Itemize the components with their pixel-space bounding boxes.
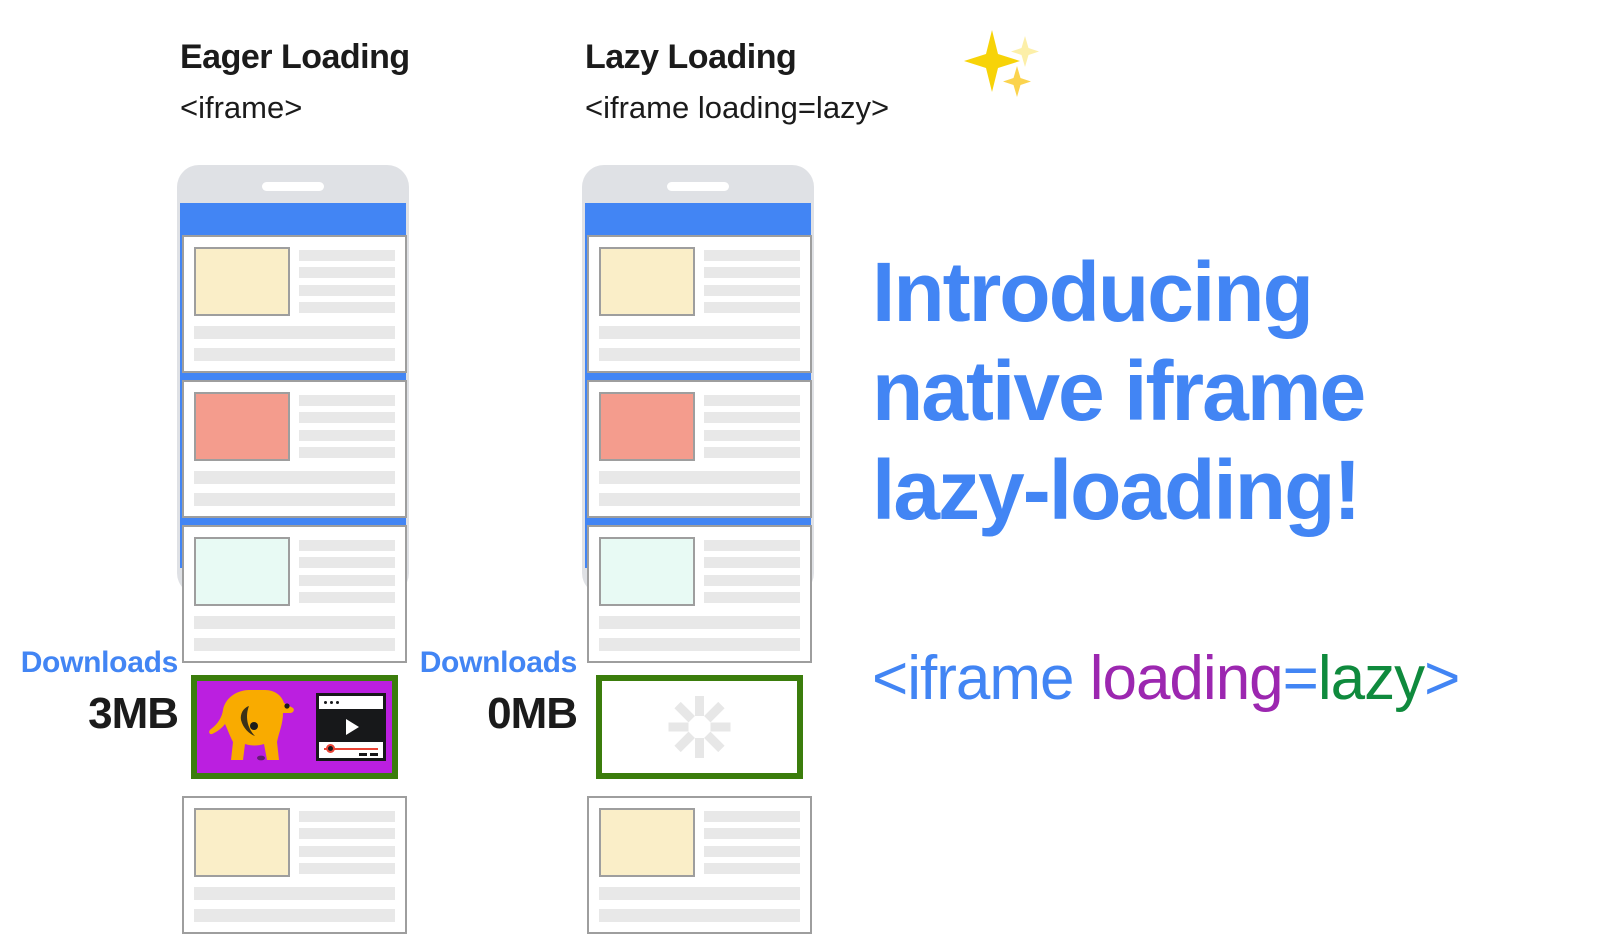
downloads-title: Downloads xyxy=(405,648,577,678)
phone-speaker xyxy=(262,182,324,191)
control-dash-icon xyxy=(359,753,367,756)
downloads-label-eager: Downloads 3MB xyxy=(0,648,178,736)
skeleton-line xyxy=(704,811,800,822)
skeleton-line xyxy=(704,863,800,874)
skeleton-line xyxy=(299,592,395,603)
skeleton-line xyxy=(299,557,395,568)
column-header-eager: Eager Loading <iframe> xyxy=(180,40,410,123)
skeleton-line xyxy=(704,557,800,568)
skeleton-line xyxy=(299,846,395,857)
skeleton-line xyxy=(704,412,800,423)
code-snippet: <iframe loading=lazy> xyxy=(872,648,1459,710)
content-card xyxy=(182,380,407,518)
skeleton-line xyxy=(599,493,800,506)
skeleton-line xyxy=(704,447,800,458)
skeleton-line xyxy=(599,638,800,651)
card-thumbnail xyxy=(599,537,695,606)
iframe-placeholder-lazy[interactable] xyxy=(596,675,803,779)
dog-illustration-icon xyxy=(209,684,295,773)
headline-line-1: Introducing xyxy=(872,243,1572,342)
eager-title: Eager Loading xyxy=(180,40,410,74)
player-stage[interactable] xyxy=(319,712,383,742)
downloads-value: 3MB xyxy=(0,692,178,736)
headline: Introducing native iframe lazy-loading! xyxy=(872,243,1572,540)
skeleton-line xyxy=(299,250,395,261)
headline-line-3: lazy-loading! xyxy=(872,441,1572,540)
card-thumbnail xyxy=(194,392,290,461)
skeleton-line xyxy=(299,575,395,586)
skeleton-line xyxy=(194,493,395,506)
skeleton-line xyxy=(704,575,800,586)
content-card xyxy=(587,525,812,663)
skeleton-line xyxy=(194,471,395,484)
skeleton-line xyxy=(704,540,800,551)
iframe-loaded-eager[interactable] xyxy=(191,675,398,779)
eager-subtitle: <iframe> xyxy=(180,92,410,123)
sparkles-icon xyxy=(962,28,1040,98)
video-player-mock[interactable] xyxy=(316,693,386,761)
skeleton-line xyxy=(599,887,800,900)
content-card xyxy=(587,235,812,373)
code-value: lazy xyxy=(1318,644,1424,713)
skeleton-line xyxy=(299,540,395,551)
play-icon[interactable] xyxy=(346,719,359,735)
skeleton-line xyxy=(299,430,395,441)
player-titlebar xyxy=(319,696,383,712)
skeleton-line xyxy=(194,887,395,900)
downloads-title: Downloads xyxy=(0,648,178,678)
skeleton-line xyxy=(194,616,395,629)
skeleton-line xyxy=(704,250,800,261)
phone-speaker xyxy=(667,182,729,191)
card-thumbnail xyxy=(599,808,695,877)
skeleton-line xyxy=(704,430,800,441)
control-dash-icon xyxy=(370,753,378,756)
card-thumbnail xyxy=(194,247,290,316)
content-card xyxy=(587,380,812,518)
downloads-label-lazy: Downloads 0MB xyxy=(405,648,577,736)
progress-knob[interactable] xyxy=(326,744,335,753)
content-card xyxy=(182,796,407,934)
content-card xyxy=(587,796,812,934)
loading-spinner-icon xyxy=(669,696,731,758)
skeleton-line xyxy=(599,471,800,484)
skeleton-line xyxy=(299,267,395,278)
control-buttons[interactable] xyxy=(359,753,378,756)
skeleton-line xyxy=(299,302,395,313)
skeleton-line xyxy=(194,348,395,361)
skeleton-line xyxy=(599,348,800,361)
content-stack-eager xyxy=(182,235,407,941)
skeleton-line xyxy=(704,592,800,603)
skeleton-line xyxy=(194,326,395,339)
column-header-lazy: Lazy Loading <iframe loading=lazy> xyxy=(585,40,889,123)
skeleton-line xyxy=(704,846,800,857)
skeleton-line xyxy=(704,285,800,296)
skeleton-line xyxy=(194,909,395,922)
content-stack-lazy xyxy=(587,235,812,941)
lazy-title: Lazy Loading xyxy=(585,40,889,74)
downloads-value: 0MB xyxy=(405,692,577,736)
skeleton-line xyxy=(704,302,800,313)
card-thumbnail xyxy=(194,537,290,606)
skeleton-line xyxy=(299,412,395,423)
code-tag-close: > xyxy=(1424,644,1459,713)
card-thumbnail xyxy=(194,808,290,877)
skeleton-line xyxy=(704,395,800,406)
player-controls[interactable] xyxy=(319,742,383,758)
skeleton-line xyxy=(704,828,800,839)
content-card xyxy=(182,525,407,663)
code-equals: = xyxy=(1283,644,1318,713)
card-thumbnail xyxy=(599,392,695,461)
skeleton-line xyxy=(704,267,800,278)
dot-icon xyxy=(330,701,333,704)
skeleton-line xyxy=(599,616,800,629)
dot-icon xyxy=(324,701,327,704)
skeleton-line xyxy=(599,909,800,922)
skeleton-line xyxy=(299,395,395,406)
skeleton-line xyxy=(299,447,395,458)
dot-icon xyxy=(336,701,339,704)
skeleton-line xyxy=(194,638,395,651)
skeleton-line xyxy=(299,285,395,296)
content-card xyxy=(182,235,407,373)
skeleton-line xyxy=(299,863,395,874)
skeleton-line xyxy=(299,828,395,839)
lazy-subtitle: <iframe loading=lazy> xyxy=(585,92,889,123)
card-thumbnail xyxy=(599,247,695,316)
headline-line-2: native iframe xyxy=(872,342,1572,441)
code-tag-open: <iframe xyxy=(872,644,1073,713)
skeleton-line xyxy=(599,326,800,339)
code-attribute: loading xyxy=(1073,644,1282,713)
skeleton-line xyxy=(299,811,395,822)
